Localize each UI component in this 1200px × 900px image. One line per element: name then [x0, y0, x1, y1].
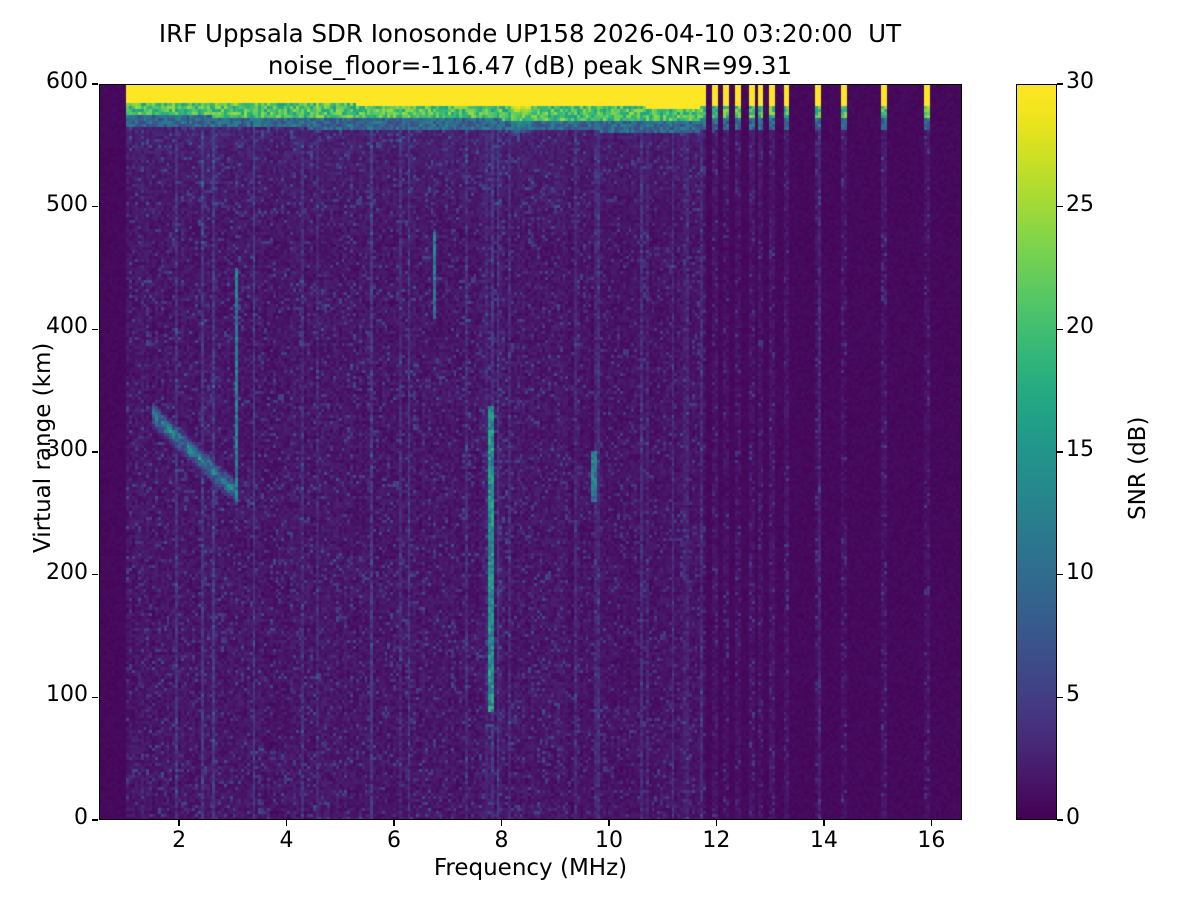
- c-tick-label: 15: [1066, 437, 1094, 462]
- x-tick-label: 8: [471, 828, 531, 853]
- x-tick-mark: [501, 820, 502, 826]
- x-tick-mark: [931, 820, 932, 826]
- title-line-2: noise_floor=-116.47 (dB) peak SNR=99.31: [0, 50, 1060, 82]
- title-line-1: IRF Uppsala SDR Ionosonde UP158 2026-04-…: [0, 18, 1060, 50]
- c-tick-label: 20: [1066, 314, 1094, 339]
- x-tick-mark: [608, 820, 609, 826]
- ionogram-heatmap: [100, 85, 961, 819]
- y-tick-mark: [92, 697, 98, 698]
- y-tick-mark: [92, 83, 98, 84]
- x-tick-label: 6: [364, 828, 424, 853]
- c-tick-mark: [1057, 329, 1063, 330]
- y-tick-mark: [92, 574, 98, 575]
- y-axis-label: Virtual range (km): [30, 343, 56, 553]
- x-axis-label: Frequency (MHz): [99, 855, 962, 881]
- c-tick-label: 5: [1066, 682, 1080, 707]
- x-tick-mark: [393, 820, 394, 826]
- x-tick-mark: [286, 820, 287, 826]
- colorbar-label: SNR (dB): [1125, 417, 1151, 520]
- c-tick-mark: [1057, 83, 1063, 84]
- ionogram-axes[interactable]: [99, 84, 962, 820]
- c-tick-mark: [1057, 819, 1063, 820]
- figure-title: IRF Uppsala SDR Ionosonde UP158 2026-04-…: [0, 18, 1060, 82]
- x-tick-mark: [823, 820, 824, 826]
- x-tick-label: 14: [794, 828, 854, 853]
- y-tick-mark: [92, 206, 98, 207]
- y-tick-label: 500: [46, 192, 88, 217]
- colorbar[interactable]: [1016, 84, 1057, 820]
- c-tick-label: 25: [1066, 192, 1094, 217]
- c-tick-label: 0: [1066, 805, 1080, 830]
- c-tick-mark: [1057, 697, 1063, 698]
- y-tick-mark: [92, 451, 98, 452]
- y-tick-label: 0: [74, 805, 88, 830]
- x-tick-mark: [178, 820, 179, 826]
- y-tick-mark: [92, 819, 98, 820]
- y-tick-mark: [92, 329, 98, 330]
- x-tick-label: 2: [149, 828, 209, 853]
- y-tick-label: 100: [46, 682, 88, 707]
- c-tick-mark: [1057, 574, 1063, 575]
- c-tick-mark: [1057, 451, 1063, 452]
- y-tick-label: 400: [46, 314, 88, 339]
- x-tick-mark: [716, 820, 717, 826]
- c-tick-label: 10: [1066, 560, 1094, 585]
- ionogram-figure: IRF Uppsala SDR Ionosonde UP158 2026-04-…: [0, 0, 1200, 900]
- colorbar-gradient: [1017, 85, 1056, 819]
- c-tick-label: 30: [1066, 69, 1094, 94]
- y-tick-label: 600: [46, 69, 88, 94]
- x-tick-label: 4: [257, 828, 317, 853]
- x-tick-label: 16: [901, 828, 961, 853]
- c-tick-mark: [1057, 206, 1063, 207]
- x-tick-label: 10: [579, 828, 639, 853]
- y-tick-label: 200: [46, 560, 88, 585]
- x-tick-label: 12: [686, 828, 746, 853]
